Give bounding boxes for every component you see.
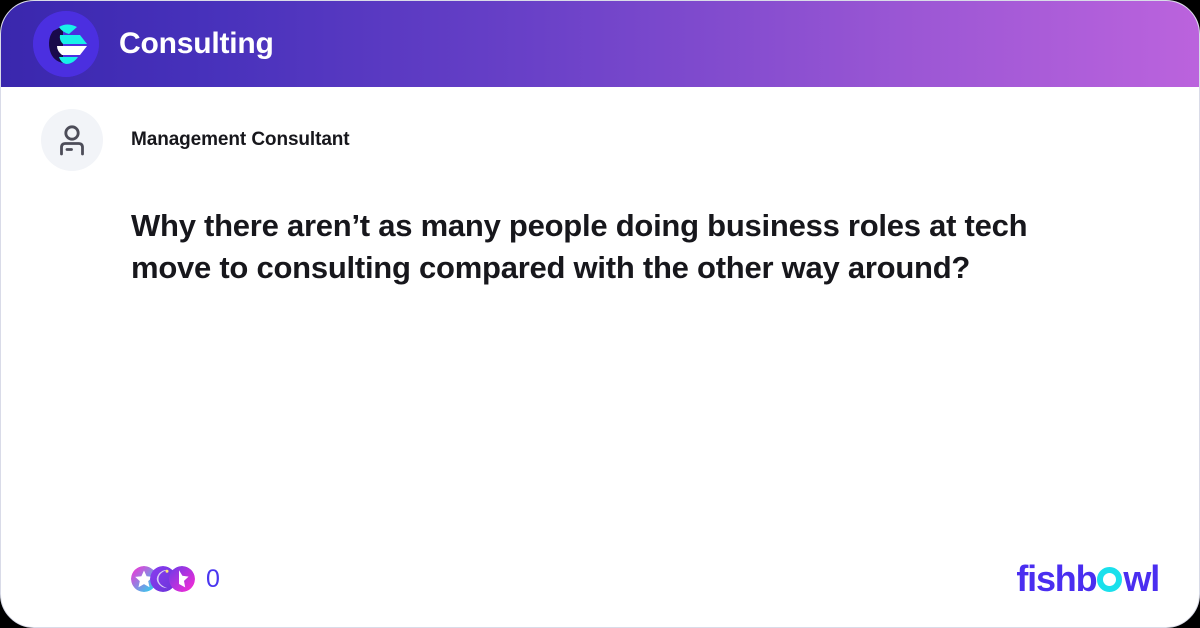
post-body-area: Management Consultant Why there aren’t a…: [1, 87, 1199, 627]
fishbowl-logo-icon[interactable]: [33, 11, 99, 77]
reaction-count: 0: [206, 567, 220, 592]
reaction-badge-stack[interactable]: [131, 566, 195, 592]
fishbowl-wordmark: fishb wl: [1016, 561, 1159, 597]
group-header: Consulting: [1, 1, 1199, 87]
group-title: Consulting: [119, 29, 274, 59]
reactions-group[interactable]: 0: [131, 566, 220, 592]
post-text: Why there aren’t as many people doing bu…: [131, 205, 1069, 290]
author-row: Management Consultant: [41, 109, 1159, 171]
brand-text-second: wl: [1123, 561, 1159, 597]
post-content: Why there aren’t as many people doing bu…: [131, 205, 1069, 290]
brand-text-first: fishb: [1016, 561, 1096, 597]
post-footer: 0 fishb wl: [1, 531, 1199, 627]
cyan-ring-o-icon: [1097, 567, 1122, 592]
sparkle-reaction-icon[interactable]: [169, 566, 195, 592]
person-icon: [55, 123, 89, 157]
author-name: Management Consultant: [131, 129, 350, 151]
post-card: Consulting Management Consultant Why the…: [0, 0, 1200, 628]
avatar[interactable]: [41, 109, 103, 171]
